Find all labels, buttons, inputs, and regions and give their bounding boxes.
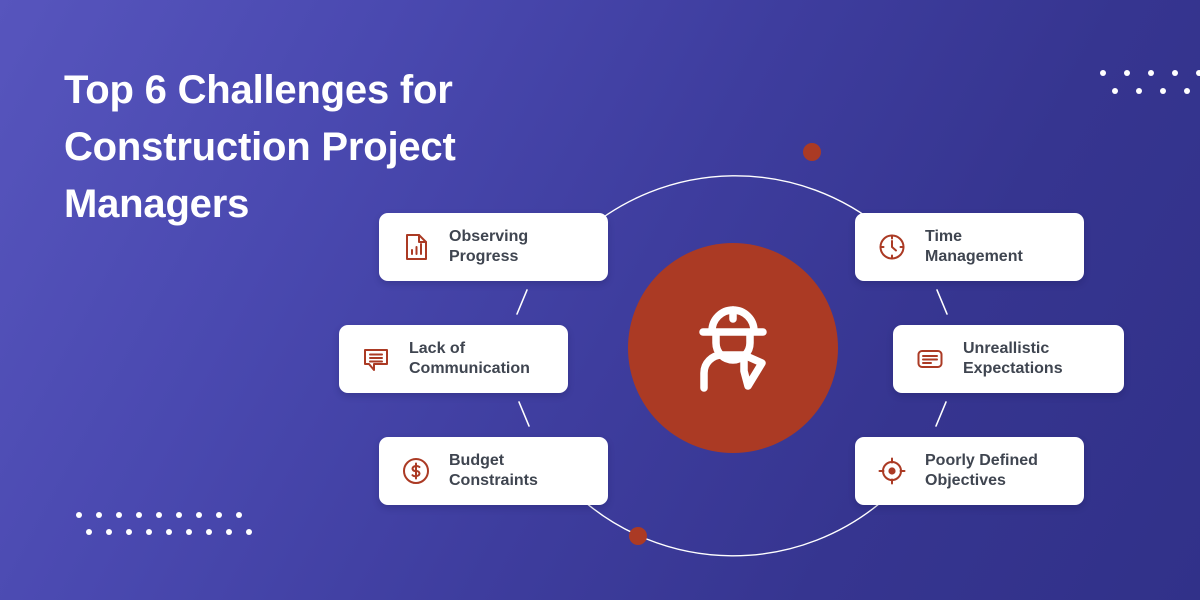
- target-icon: [875, 454, 909, 488]
- card-label: Poorly Defined Objectives: [925, 451, 1038, 490]
- card-lack-of-communication[interactable]: Lack of Communication: [339, 325, 568, 393]
- document-bar-chart-icon: [399, 230, 433, 264]
- dollar-circle-icon: [399, 454, 433, 488]
- connector-tick-left-upper: [517, 290, 527, 314]
- card-unrealistic-expectations[interactable]: Unreallistic Expectations: [893, 325, 1124, 393]
- infographic-canvas: Top 6 Challenges for Construction Projec…: [0, 0, 1200, 600]
- connector-tick-right-upper: [937, 290, 947, 314]
- card-label: Time Management: [925, 227, 1023, 266]
- ring-arc-top: [582, 176, 884, 234]
- card-label: Unreallistic Expectations: [963, 339, 1063, 378]
- ring-diagram: [0, 0, 1200, 600]
- card-poorly-defined-objectives[interactable]: Poorly Defined Objectives: [855, 437, 1084, 505]
- speech-bubble-icon: [359, 342, 393, 376]
- ring-arc-bottom: [578, 496, 886, 556]
- arc-marker-bottom: [629, 527, 647, 545]
- card-label: Lack of Communication: [409, 339, 530, 378]
- card-observing-progress[interactable]: Observing Progress: [379, 213, 608, 281]
- card-label: Observing Progress: [449, 227, 528, 266]
- clock-icon: [875, 230, 909, 264]
- card-lines-icon: [913, 342, 947, 376]
- connector-tick-right-lower: [936, 402, 946, 426]
- card-budget-constraints[interactable]: Budget Constraints: [379, 437, 608, 505]
- center-hub: [628, 243, 838, 453]
- card-label: Budget Constraints: [449, 451, 538, 490]
- connector-tick-left-lower: [519, 402, 529, 426]
- card-time-management[interactable]: Time Management: [855, 213, 1084, 281]
- arc-marker-top: [803, 143, 821, 161]
- construction-worker-icon: [670, 285, 796, 411]
